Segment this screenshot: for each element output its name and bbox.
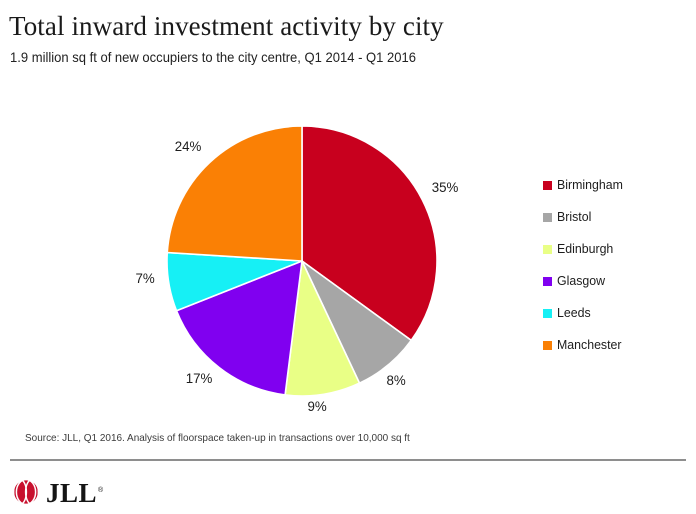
legend-item-birmingham[interactable]: Birmingham xyxy=(543,178,693,210)
legend-item-label: Edinburgh xyxy=(557,242,613,256)
legend-item-label: Leeds xyxy=(557,306,591,320)
pie-slice-group xyxy=(167,126,437,396)
chart-legend: BirminghamBristolEdinburghGlasgowLeedsMa… xyxy=(543,178,693,370)
source-note: Source: JLL, Q1 2016. Analysis of floors… xyxy=(25,432,410,445)
legend-swatch-icon xyxy=(543,309,552,318)
slice-label-birmingham: 35% xyxy=(432,179,459,195)
page-subtitle: 1.9 million sq ft of new occupiers to th… xyxy=(10,48,416,66)
pie-chart-svg xyxy=(0,80,520,430)
pie-chart: 35% 8% 9% 17% 7% 24% xyxy=(0,80,520,430)
legend-item-leeds[interactable]: Leeds xyxy=(543,306,693,338)
jll-logo-mark-icon xyxy=(12,479,42,505)
legend-item-manchester[interactable]: Manchester xyxy=(543,338,693,370)
slice-label-bristol: 8% xyxy=(387,372,406,388)
page-title: Total inward investment activity by city xyxy=(9,10,444,42)
legend-item-label: Birmingham xyxy=(557,178,623,192)
legend-swatch-icon xyxy=(543,213,552,222)
legend-item-label: Glasgow xyxy=(557,274,605,288)
slice-label-glasgow: 17% xyxy=(186,370,213,386)
legend-swatch-icon xyxy=(543,181,552,190)
legend-swatch-icon xyxy=(543,245,552,254)
legend-item-edinburgh[interactable]: Edinburgh xyxy=(543,242,693,274)
slice-label-edinburgh: 9% xyxy=(308,398,327,414)
legend-swatch-icon xyxy=(543,277,552,286)
legend-item-label: Bristol xyxy=(557,210,591,224)
legend-item-label: Manchester xyxy=(557,338,622,352)
legend-item-glasgow[interactable]: Glasgow xyxy=(543,274,693,306)
slice-label-leeds: 7% xyxy=(136,270,155,286)
footer-divider xyxy=(10,459,686,461)
slice-label-manchester: 24% xyxy=(175,138,202,154)
jll-logo-wordmark: JLL® xyxy=(46,477,104,507)
legend-item-bristol[interactable]: Bristol xyxy=(543,210,693,242)
legend-swatch-icon xyxy=(543,341,552,350)
registered-mark-icon: ® xyxy=(98,487,104,494)
chart-page: Total inward investment activity by city… xyxy=(0,0,696,514)
jll-logo: JLL® xyxy=(12,478,104,506)
